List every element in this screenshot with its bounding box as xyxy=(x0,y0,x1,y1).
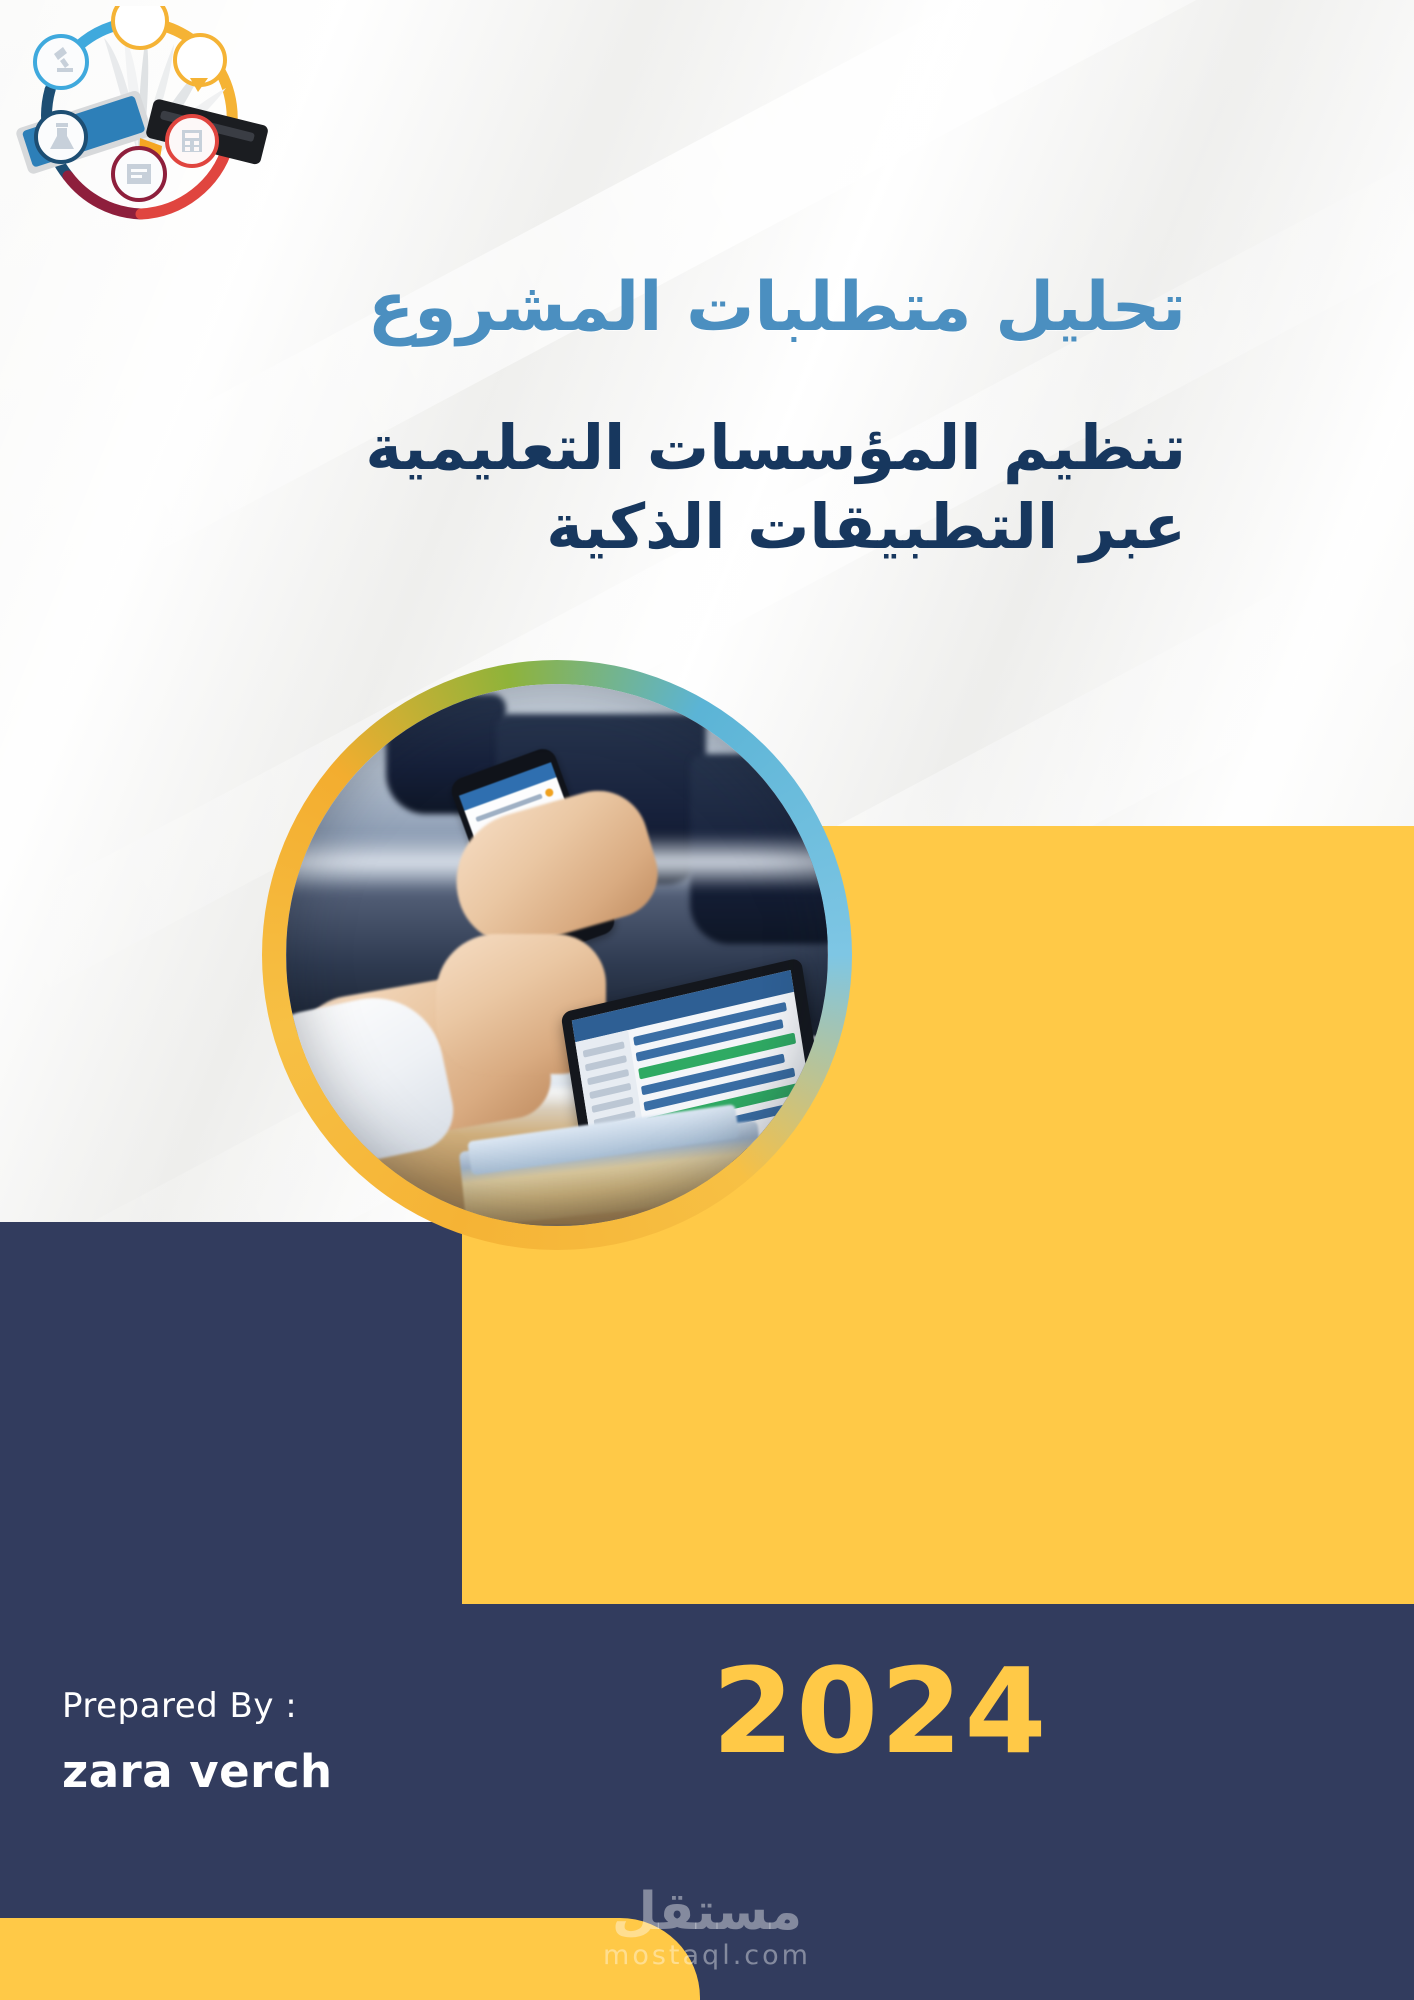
open-book-infographic-logo xyxy=(12,6,270,228)
yellow-footer-shape xyxy=(0,1918,700,2000)
page-title: تحليل متطلبات المشروع xyxy=(0,268,1216,348)
subtitle-block: تنظيم المؤسسات التعليمية عبر التطبيقات ا… xyxy=(0,408,1216,567)
subtitle-line-2: عبر التطبيقات الذكية xyxy=(0,487,1186,566)
subtitle-line-1: تنظيم المؤسسات التعليمية xyxy=(365,411,1186,484)
classroom-smartphone-tablet-photo xyxy=(286,684,828,1226)
title-block: تحليل متطلبات المشروع xyxy=(0,268,1216,348)
author-name: zara verch xyxy=(62,1745,333,1798)
cover-page: تحليل متطلبات المشروع تنظيم المؤسسات الت… xyxy=(0,0,1414,2000)
prepared-by-label: Prepared By : xyxy=(62,1686,297,1726)
photo-ring xyxy=(262,660,852,1250)
year-label: 2024 xyxy=(712,1642,1332,1780)
page-subtitle: تنظيم المؤسسات التعليمية عبر التطبيقات ا… xyxy=(0,408,1216,567)
